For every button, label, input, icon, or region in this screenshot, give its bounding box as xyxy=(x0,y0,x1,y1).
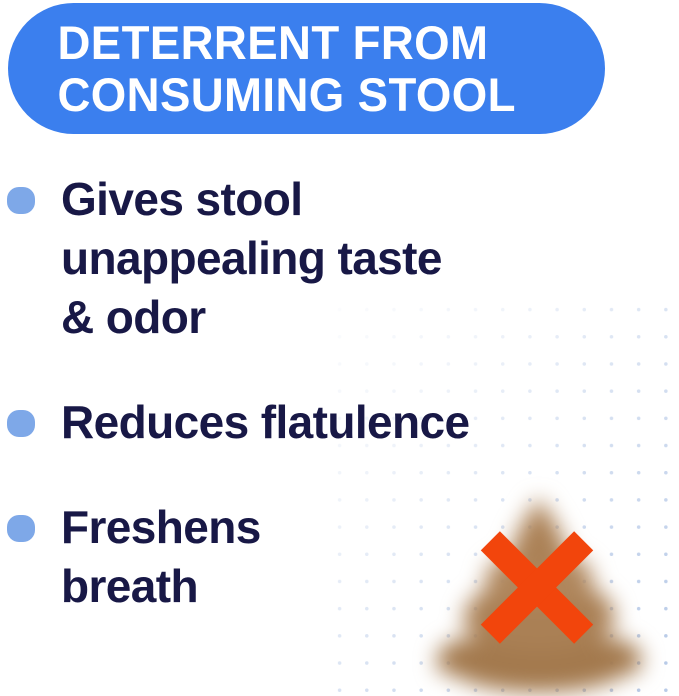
bullet-dot-icon xyxy=(7,515,35,542)
header-pill-banner: DETERRENT FROM CONSUMING STOOL xyxy=(8,3,605,134)
benefit-list: Gives stool unappealing taste & odor Red… xyxy=(0,170,640,616)
bullet-dot-icon xyxy=(7,410,35,437)
bullet-dot-icon xyxy=(7,187,35,214)
benefit-item-gives-stool-unappealing-taste: Gives stool unappealing taste & odor xyxy=(0,170,640,347)
benefit-item-label: Freshens breath xyxy=(61,498,640,616)
benefit-item-freshens-breath: Freshens breath xyxy=(0,498,640,616)
benefit-item-label: Reduces flatulence xyxy=(61,393,640,452)
infographic-card: DETERRENT FROM CONSUMING STOOL Gives sto… xyxy=(0,0,679,696)
header-title: DETERRENT FROM CONSUMING STOOL xyxy=(8,17,535,121)
benefit-item-reduces-flatulence: Reduces flatulence xyxy=(0,393,640,452)
benefit-item-label: Gives stool unappealing taste & odor xyxy=(61,170,640,347)
